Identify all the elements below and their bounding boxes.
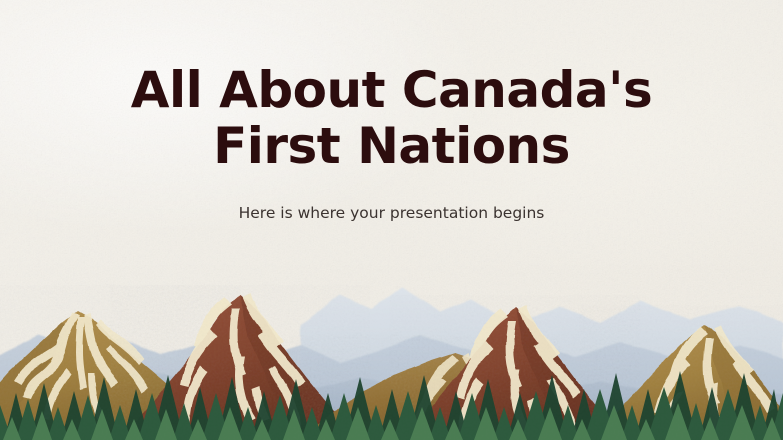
title-block: All About Canada's First Nations Here is…: [0, 62, 783, 223]
mountain-illustration: [0, 265, 783, 440]
presentation-slide: All About Canada's First Nations Here is…: [0, 0, 783, 440]
title-line-1: All About Canada's: [0, 62, 783, 118]
slide-subtitle: Here is where your presentation begins: [0, 174, 783, 223]
page-title: All About Canada's First Nations: [0, 62, 783, 174]
title-line-2: First Nations: [0, 118, 783, 174]
